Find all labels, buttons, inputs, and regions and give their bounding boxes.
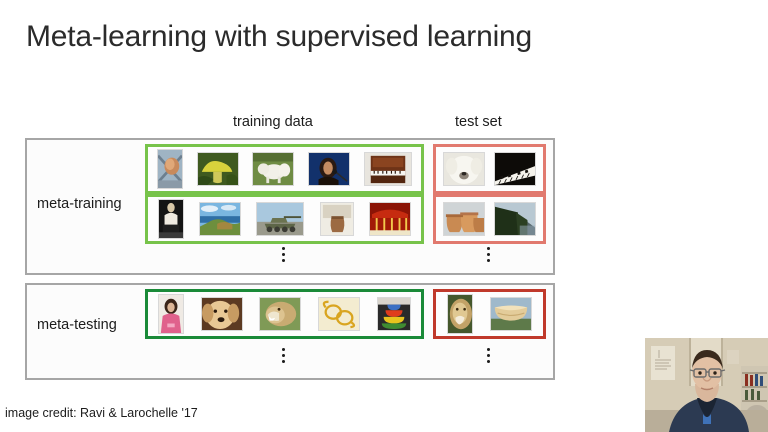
white-dog-on-grass-photo [252, 152, 294, 186]
test-set-group [433, 194, 546, 244]
vertical-ellipsis [487, 348, 490, 363]
meta-testing-panel: meta-testing [25, 283, 555, 380]
presenter-webcam-video[interactable] [645, 338, 768, 432]
roaring-lion-photo [259, 297, 301, 331]
person-at-podium-photo [158, 199, 184, 239]
ellipsis-dot [487, 259, 490, 262]
upright-piano-photo [364, 152, 412, 186]
episode-row [145, 194, 546, 244]
wooden-bowl-photo [490, 297, 532, 331]
clay-pots-photo [443, 202, 485, 236]
woman-singing-microphone-photo [308, 152, 350, 186]
column-header-training-data: training data [233, 114, 313, 130]
cliff-coastline-photo [494, 202, 536, 236]
lion-portrait-photo [447, 294, 473, 334]
training-set-group [145, 289, 424, 339]
vertical-ellipsis [282, 348, 285, 363]
panel-label-meta-testing: meta-testing [37, 317, 117, 333]
vertical-ellipsis [487, 247, 490, 262]
ellipsis-dot [282, 348, 285, 351]
coastal-cliff-photo [199, 202, 241, 236]
military-tank-photo [256, 202, 304, 236]
ellipsis-dot [487, 247, 490, 250]
episode-row [145, 144, 546, 194]
carousel-photo [369, 202, 411, 236]
test-set-group [433, 289, 546, 339]
piano-keys-photo [494, 152, 536, 186]
ellipsis-dot [282, 360, 285, 363]
ellipsis-dot [282, 247, 285, 250]
stacked-bowls-photo [377, 297, 411, 331]
vertical-ellipsis [282, 247, 285, 262]
page-title: Meta-learning with supervised learning [26, 20, 532, 54]
ellipsis-dot [487, 348, 490, 351]
golden-retriever-photo [201, 297, 243, 331]
girl-in-pink-photo [158, 294, 184, 334]
column-header-test-set: test set [455, 114, 502, 130]
panel-label-meta-training: meta-training [37, 196, 122, 212]
white-dog-face-photo [443, 152, 485, 186]
ellipsis-dot [282, 253, 285, 256]
ellipsis-dot [487, 253, 490, 256]
training-set-group [145, 194, 424, 244]
yellow-rope-knot-photo [318, 297, 360, 331]
ellipsis-dot [282, 354, 285, 357]
yellow-mushroom-photo [197, 152, 239, 186]
ellipsis-dot [487, 360, 490, 363]
baseball-glove-photo [157, 149, 183, 189]
image-credit: image credit: Ravi & Larochelle '17 [5, 406, 198, 420]
episode-row [145, 289, 546, 339]
clay-jar-photo [320, 202, 354, 236]
meta-training-panel: meta-training [25, 138, 555, 275]
ellipsis-dot [487, 354, 490, 357]
ellipsis-dot [282, 259, 285, 262]
test-set-group [433, 144, 546, 194]
training-set-group [145, 144, 424, 194]
